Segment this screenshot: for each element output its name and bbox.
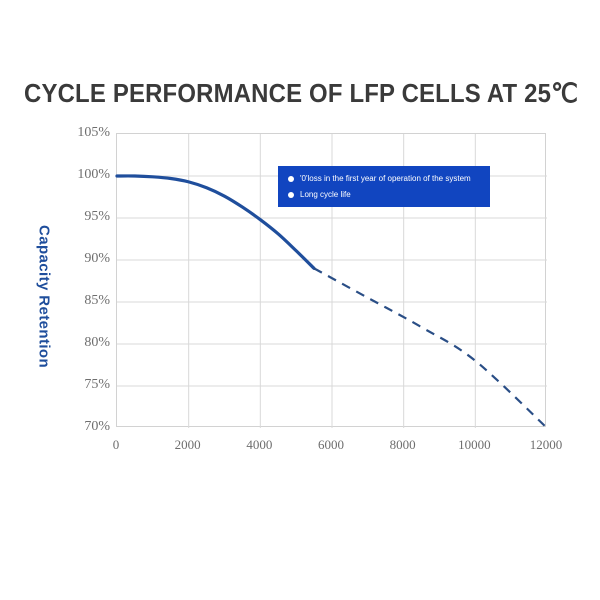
y-axis-tick-label: 70% (54, 420, 110, 434)
legend-item: Long cycle life (288, 187, 490, 202)
legend-dot-icon (288, 176, 294, 182)
x-axis-tick-label: 8000 (363, 437, 443, 453)
legend-dot-icon (288, 192, 294, 198)
y-axis-tick-label: 95% (54, 210, 110, 224)
x-axis-tick-label: 12000 (506, 437, 586, 453)
legend-item: '0'loss in the first year of operation o… (288, 171, 490, 186)
y-axis-tick-label: 85% (54, 294, 110, 308)
y-axis-tick-label: 90% (54, 252, 110, 266)
y-axis-tick-label: 80% (54, 336, 110, 350)
y-axis-tick-label: 105% (54, 126, 110, 140)
legend-item-label: Long cycle life (300, 190, 351, 200)
chart-legend: '0'loss in the first year of operation o… (278, 166, 490, 207)
legend-item-label: '0'loss in the first year of operation o… (300, 174, 471, 184)
y-axis-tick-labels: 105%100%95%90%85%80%75%70% (52, 133, 110, 427)
series-line-2 (314, 268, 547, 428)
y-axis-tick-label: 75% (54, 378, 110, 392)
y-axis-title: Capacity Retention (36, 212, 53, 382)
x-axis-tick-label: 10000 (434, 437, 514, 453)
x-axis-tick-labels: 020004000600080001000012000 (116, 437, 546, 457)
x-axis-tick-label: 4000 (219, 437, 299, 453)
x-axis-tick-label: 2000 (148, 437, 228, 453)
chart-container: CYCLE PERFORMANCE OF LFP CELLS AT 25℃ Ca… (0, 0, 600, 600)
y-axis-tick-label: 100% (54, 168, 110, 182)
x-axis-tick-label: 0 (76, 437, 156, 453)
x-axis-tick-label: 6000 (291, 437, 371, 453)
chart-title: CYCLE PERFORMANCE OF LFP CELLS AT 25℃ (24, 78, 576, 109)
